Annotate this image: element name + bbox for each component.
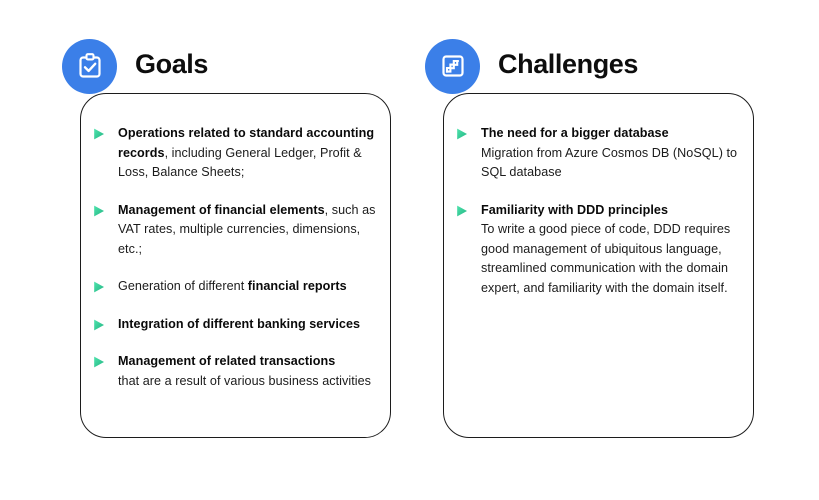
list-item-lead: Management of financial elements	[118, 203, 325, 217]
list-item-text: Familiarity with DDD principlesTo write …	[481, 201, 740, 299]
list-item: Operations related to standard accountin…	[92, 124, 377, 183]
list-item-rest: financial reports	[248, 279, 347, 293]
triangle-bullet-icon	[92, 355, 106, 369]
triangle-bullet-icon	[92, 280, 106, 294]
list-item-text: Generation of different financial report…	[118, 277, 347, 297]
list-item-lead: Management of related transactions	[118, 354, 335, 368]
triangle-bullet-icon	[92, 318, 106, 332]
list-item-rest: that are a result of various business ac…	[118, 374, 371, 388]
triangle-bullet-icon	[455, 204, 469, 218]
list-item-text: Management of related transactionsthat a…	[118, 352, 371, 391]
challenges-bullet-list: The need for a bigger databaseMigration …	[455, 124, 740, 298]
list-item: Generation of different financial report…	[92, 277, 377, 297]
list-item-lead: The need for a bigger database	[481, 126, 669, 140]
list-item-rest: To write a good piece of code, DDD requi…	[481, 222, 730, 295]
list-item-text: The need for a bigger databaseMigration …	[481, 124, 740, 183]
list-item: Integration of different banking service…	[92, 315, 377, 335]
list-item-rest: Migration from Azure Cosmos DB (NoSQL) t…	[481, 146, 737, 180]
list-item: The need for a bigger databaseMigration …	[455, 124, 740, 183]
goals-title: Goals	[135, 51, 208, 78]
stairs-icon	[425, 39, 480, 94]
challenges-header: Challenges	[425, 38, 638, 94]
list-item: Familiarity with DDD principlesTo write …	[455, 201, 740, 299]
list-item-text: Operations related to standard accountin…	[118, 124, 377, 183]
triangle-bullet-icon	[92, 127, 106, 141]
list-item-text: Management of financial elements, such a…	[118, 201, 377, 260]
challenges-title: Challenges	[498, 51, 638, 78]
goals-bullet-list: Operations related to standard accountin…	[92, 124, 377, 391]
list-item-lead: Generation of different	[118, 279, 248, 293]
triangle-bullet-icon	[455, 127, 469, 141]
list-item-lead: Integration of different banking service…	[118, 317, 360, 331]
list-item: Management of financial elements, such a…	[92, 201, 377, 260]
slide-canvas: Goals Operations related to standard acc…	[0, 0, 819, 500]
list-item: Management of related transactionsthat a…	[92, 352, 377, 391]
goals-header: Goals	[62, 38, 208, 94]
list-item-lead: Familiarity with DDD principles	[481, 203, 668, 217]
list-item-text: Integration of different banking service…	[118, 315, 360, 335]
triangle-bullet-icon	[92, 204, 106, 218]
clipboard-check-icon	[62, 39, 117, 94]
